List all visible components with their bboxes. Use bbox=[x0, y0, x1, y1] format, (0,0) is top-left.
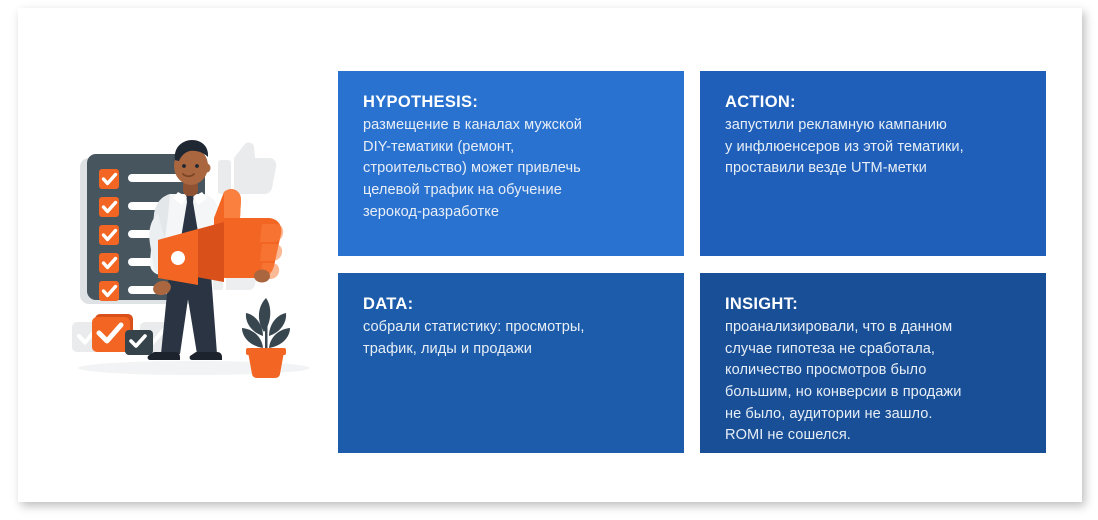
plant-pot bbox=[248, 352, 284, 378]
card-insight-body: проанализировали, что в данном случае ги… bbox=[725, 317, 1022, 447]
card-action-body: запустили рекламную кампанию у инфлюенсе… bbox=[725, 115, 1022, 180]
card-action: ACTION: запустили рекламную кампанию у и… bbox=[700, 71, 1046, 256]
card-insight: INSIGHT: проанализировали, что в данном … bbox=[700, 273, 1046, 453]
thumbs-up-dot bbox=[171, 251, 185, 265]
badge-check-slate bbox=[125, 330, 153, 355]
person-head bbox=[174, 140, 211, 185]
ghost-thumbs-up-icon bbox=[218, 143, 276, 194]
person-shoes bbox=[148, 352, 222, 360]
card-insight-title: INSIGHT: bbox=[725, 293, 1022, 315]
checklist-thumbs-up-illustration bbox=[66, 136, 322, 384]
card-hypothesis-body: размещение в каналах мужской DIY-тематик… bbox=[363, 115, 660, 223]
slide-canvas: HYPOTHESIS: размещение в каналах мужской… bbox=[18, 8, 1082, 502]
card-action-title: ACTION: bbox=[725, 91, 1022, 113]
card-data: DATA: собрали статистику: просмотры, тра… bbox=[338, 273, 684, 453]
card-data-title: DATA: bbox=[363, 293, 660, 315]
card-data-body: собрали статистику: просмотры, трафик, л… bbox=[363, 317, 660, 360]
card-hypothesis-title: HYPOTHESIS: bbox=[363, 91, 660, 113]
card-hypothesis: HYPOTHESIS: размещение в каналах мужской… bbox=[338, 71, 684, 256]
